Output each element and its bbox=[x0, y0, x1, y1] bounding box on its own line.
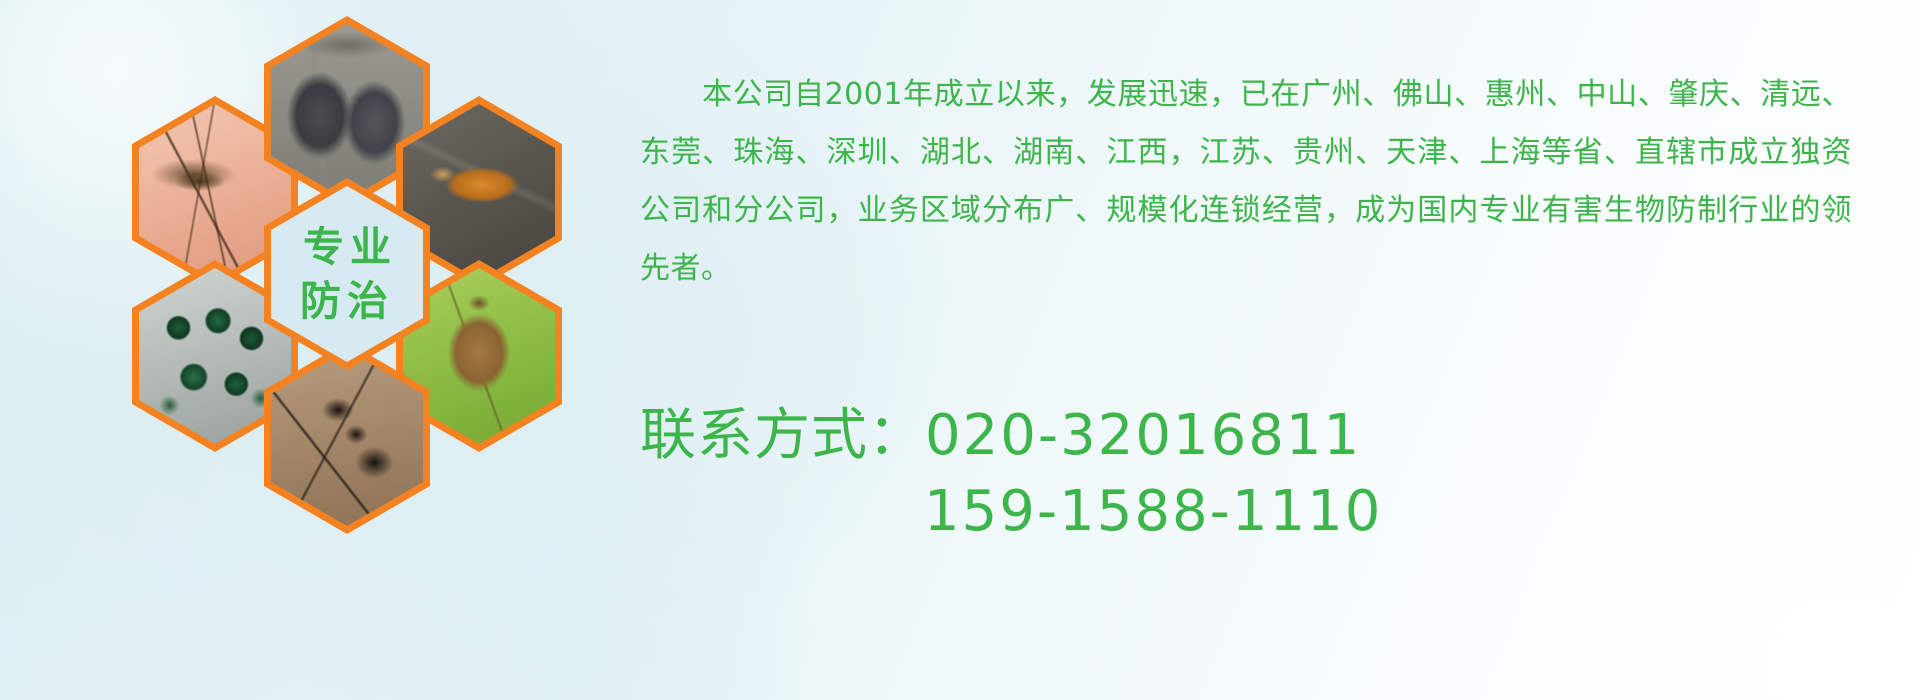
company-intro-paragraph: 本公司自2001年成立以来，发展迅速，已在广州、佛山、惠州、中山、肇庆、清远、东… bbox=[640, 66, 1852, 298]
phone-primary[interactable]: 020-32016811 bbox=[925, 403, 1361, 468]
contact-block: 联系方式：020-32016811 159-1588-1110 bbox=[640, 398, 1852, 550]
contact-label: 联系方式： bbox=[640, 403, 925, 468]
company-intro-text: 本公司自2001年成立以来，发展迅速，已在广州、佛山、惠州、中山、肇庆、清远、东… bbox=[640, 77, 1852, 286]
promo-banner: 专业 防治 本公司自2001年成立以来，发展迅速，已在广州、佛山、惠州、中山、肇… bbox=[0, 0, 1920, 700]
honeycomb-caption: 专业 防治 bbox=[297, 220, 397, 328]
hex-inner-caption: 专业 防治 bbox=[271, 186, 423, 362]
contact-line-primary: 联系方式：020-32016811 bbox=[640, 398, 1852, 474]
hex-inner-ant bbox=[271, 350, 423, 526]
phone-secondary[interactable]: 159-1588-1110 bbox=[924, 479, 1382, 544]
honeycomb-photo-cluster: 专业 防治 bbox=[96, 12, 596, 582]
ant-photo bbox=[271, 350, 423, 526]
contact-line-secondary: 159-1588-1110 bbox=[640, 474, 1852, 550]
copy-column: 本公司自2001年成立以来，发展迅速，已在广州、佛山、惠州、中山、肇庆、清远、东… bbox=[640, 0, 1870, 700]
